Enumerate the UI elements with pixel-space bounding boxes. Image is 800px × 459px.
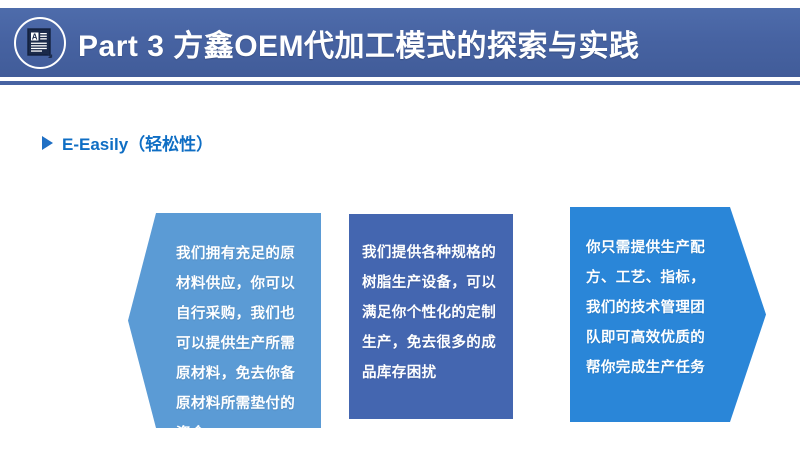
content-card-production-equipment: 我们提供各种规格的树脂生产设备，可以满足你个性化的定制生产，免去很多的成品库存困… [349, 214, 513, 419]
triangle-right-icon [42, 136, 53, 150]
card-text: 你只需提供生产配方、工艺、指标，我们的技术管理团队即可高效优质的帮你完成生产任务 [586, 233, 720, 383]
subheading-label: E-Easily（轻松性） [62, 130, 213, 155]
card-text: 我们拥有充足的原材料供应，你可以自行采购，我们也可以提供生产所需原材料，免去你备… [176, 239, 307, 449]
svg-text:A: A [32, 32, 38, 41]
document-a-icon: A [14, 17, 66, 69]
subheading: E-Easily（轻松性） [42, 130, 213, 155]
content-card-technical-team: 你只需提供生产配方、工艺、指标，我们的技术管理团队即可高效优质的帮你完成生产任务 [570, 207, 766, 422]
content-card-raw-material-supply: 我们拥有充足的原材料供应，你可以自行采购，我们也可以提供生产所需原材料，免去你备… [128, 213, 321, 428]
page-title: Part 3 方鑫OEM代加工模式的探索与实践 [78, 21, 640, 65]
header-divider-rule [0, 80, 800, 86]
slide-header-bar: A Part 3 方鑫OEM代加工模式的探索与实践 [0, 8, 800, 77]
card-text: 我们提供各种规格的树脂生产设备，可以满足你个性化的定制生产，免去很多的成品库存困… [362, 238, 500, 388]
